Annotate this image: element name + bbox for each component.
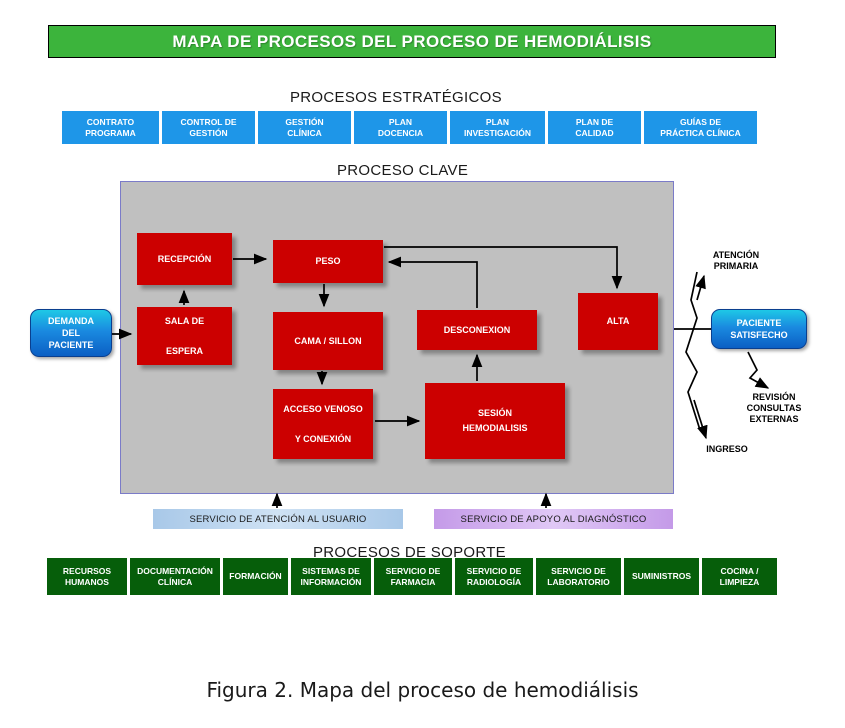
support-process-box-0[interactable]: RECURSOS HUMANOS (47, 558, 127, 595)
process-box-desconexion[interactable]: DESCONEXION (417, 310, 537, 350)
strategic-process-box-3[interactable]: PLAN DOCENCIA (354, 111, 447, 144)
strategic-process-box-0[interactable]: CONTRATO PROGRAMA (62, 111, 159, 144)
figure-caption: Figura 2. Mapa del proceso de hemodiális… (0, 678, 845, 702)
strategic-process-box-5[interactable]: PLAN DE CALIDAD (548, 111, 641, 144)
process-box-sesion-hemodialisis[interactable]: SESIÓN HEMODIALISIS (425, 383, 565, 459)
node-paciente-satisfecho[interactable]: PACIENTE SATISFECHO (711, 309, 807, 349)
support-process-box-3[interactable]: SISTEMAS DE INFORMACIÓN (291, 558, 371, 595)
support-processes-row: RECURSOS HUMANOSDOCUMENTACIÓN CLÍNICAFOR… (47, 558, 777, 595)
label-atencion-primaria: ATENCIÓN PRIMARIA (694, 250, 778, 272)
strategic-process-box-2[interactable]: GESTIÓN CLÍNICA (258, 111, 351, 144)
process-box-peso[interactable]: PESO (273, 240, 383, 283)
title-text: MAPA DE PROCESOS DEL PROCESO DE HEMODIÁL… (172, 32, 651, 52)
process-box-alta[interactable]: ALTA (578, 293, 658, 350)
title-banner: MAPA DE PROCESOS DEL PROCESO DE HEMODIÁL… (48, 25, 776, 58)
support-process-box-1[interactable]: DOCUMENTACIÓN CLÍNICA (130, 558, 220, 595)
support-process-box-4[interactable]: SERVICIO DE FARMACIA (374, 558, 452, 595)
label-revision-consultas-externas: REVISIÓN CONSULTAS EXTERNAS (734, 392, 814, 425)
label-ingreso: INGRESO (694, 444, 760, 455)
strategic-process-box-6[interactable]: GUÍAS DE PRÁCTICA CLÍNICA (644, 111, 757, 144)
process-map-figure: MAPA DE PROCESOS DEL PROCESO DE HEMODIÁL… (0, 0, 845, 728)
support-process-box-5[interactable]: SERVICIO DE RADIOLOGÍA (455, 558, 533, 595)
support-process-box-8[interactable]: COCINA / LIMPIEZA (702, 558, 777, 595)
strategic-processes-row: CONTRATO PROGRAMACONTROL DE GESTIÓNGESTI… (62, 111, 757, 144)
strategic-process-box-4[interactable]: PLAN INVESTIGACIÓN (450, 111, 545, 144)
support-process-box-6[interactable]: SERVICIO DE LABORATORIO (536, 558, 621, 595)
node-demanda-del-paciente[interactable]: DEMANDA DEL PACIENTE (30, 309, 112, 357)
strategic-process-box-1[interactable]: CONTROL DE GESTIÓN (162, 111, 255, 144)
process-box-sala-de-espera[interactable]: SALA DE ESPERA (137, 307, 232, 365)
service-bar-atencion-al-usuario[interactable]: SERVICIO DE ATENCIÓN AL USUARIO (153, 509, 403, 529)
process-box-cama-sillon[interactable]: CAMA / SILLON (273, 312, 383, 370)
process-box-recepcion[interactable]: RECEPCIÓN (137, 233, 232, 285)
support-process-box-7[interactable]: SUMINISTROS (624, 558, 699, 595)
process-box-acceso-venoso[interactable]: ACCESO VENOSO Y CONEXIÓN (273, 389, 373, 459)
support-process-box-2[interactable]: FORMACIÓN (223, 558, 288, 595)
heading-proceso-clave: PROCESO CLAVE (337, 162, 468, 179)
heading-procesos-estrategicos: PROCESOS ESTRATÉGICOS (290, 89, 502, 106)
service-bar-apoyo-al-diagnostico[interactable]: SERVICIO DE APOYO AL DIAGNÓSTICO (434, 509, 673, 529)
